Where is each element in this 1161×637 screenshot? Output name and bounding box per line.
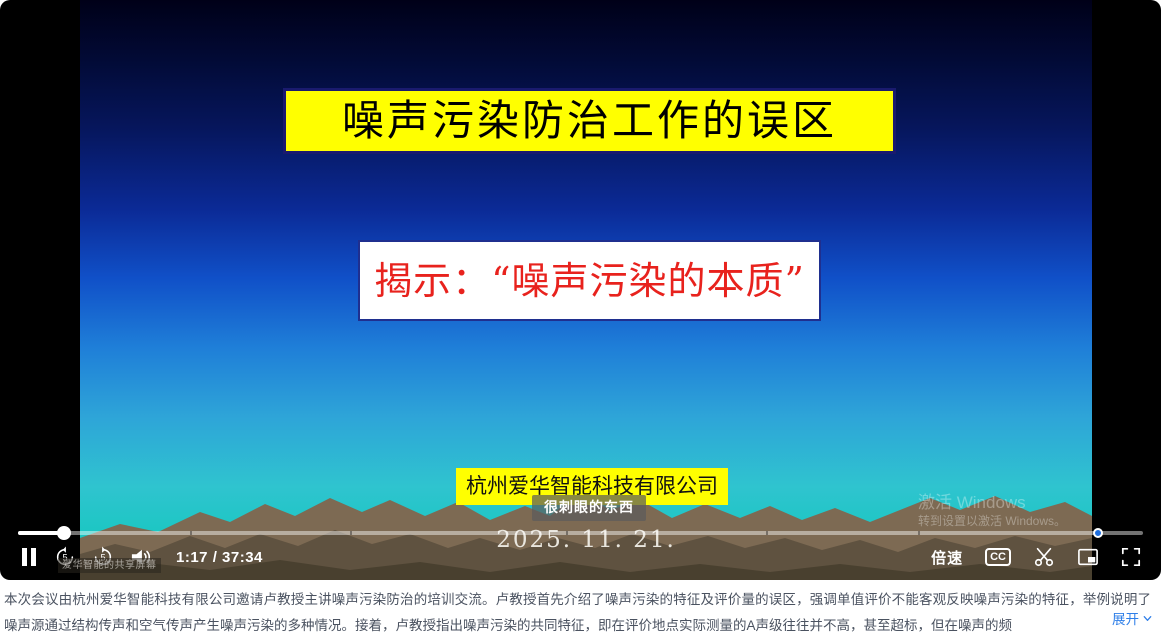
expand-description-button[interactable]: 展开 xyxy=(1086,607,1153,633)
share-screen-watermark: 爱华智能的共享屏幕 xyxy=(58,558,161,573)
video-player[interactable]: 噪声污染防治工作的误区 揭示：“噪声污染的本质” 杭州爱华智能科技有限公司 很刺… xyxy=(0,0,1161,580)
chevron-down-icon xyxy=(1142,607,1153,633)
playback-speed-button[interactable]: 倍速 xyxy=(931,547,963,568)
captions-label: CC xyxy=(985,548,1011,566)
annotation-tooltip: 很刺眼的东西 xyxy=(532,495,646,521)
windows-watermark-title: 激活 Windows xyxy=(918,493,1066,513)
progress-thumb[interactable] xyxy=(57,526,71,540)
video-content-area[interactable]: 噪声污染防治工作的误区 揭示：“噪声污染的本质” 杭州爱华智能科技有限公司 很刺… xyxy=(80,0,1092,580)
slide-subtitle-box: 揭示：“噪声污染的本质” xyxy=(358,240,821,321)
player-controls-bar: 5 5 1:17 / 37:34 倍速 xyxy=(0,518,1161,580)
progress-end-marker[interactable] xyxy=(1093,528,1103,538)
time-display: 1:17 / 37:34 xyxy=(176,549,263,566)
right-controls-group: 倍速 CC xyxy=(931,546,1141,568)
slide-title-box: 噪声污染防治工作的误区 xyxy=(283,88,896,154)
fullscreen-button[interactable] xyxy=(1121,547,1141,567)
pause-button[interactable] xyxy=(20,547,38,567)
description-text: 本次会议由杭州爱华智能科技有限公司邀请卢教授主讲噪声污染防治的培训交流。卢教授首… xyxy=(4,587,1151,637)
slide-subtitle: 揭示：“噪声污染的本质” xyxy=(374,262,805,300)
chapter-tick xyxy=(566,531,568,535)
video-description-panel: 本次会议由杭州爱华智能科技有限公司邀请卢教授主讲噪声污染防治的培训交流。卢教授首… xyxy=(0,583,1161,637)
slide-company-name: 杭州爱华智能科技有限公司 xyxy=(466,476,718,497)
clip-button[interactable] xyxy=(1033,546,1055,568)
chapter-tick xyxy=(190,531,192,535)
expand-label: 展开 xyxy=(1112,607,1139,633)
progress-bar[interactable] xyxy=(18,526,1143,540)
chapter-tick xyxy=(766,531,768,535)
chapter-tick xyxy=(350,531,352,535)
slide-title: 噪声污染防治工作的误区 xyxy=(342,100,837,142)
captions-button[interactable]: CC xyxy=(985,548,1011,566)
picture-in-picture-button[interactable] xyxy=(1077,547,1099,567)
chapter-tick xyxy=(918,531,920,535)
progress-track[interactable] xyxy=(18,531,1143,535)
